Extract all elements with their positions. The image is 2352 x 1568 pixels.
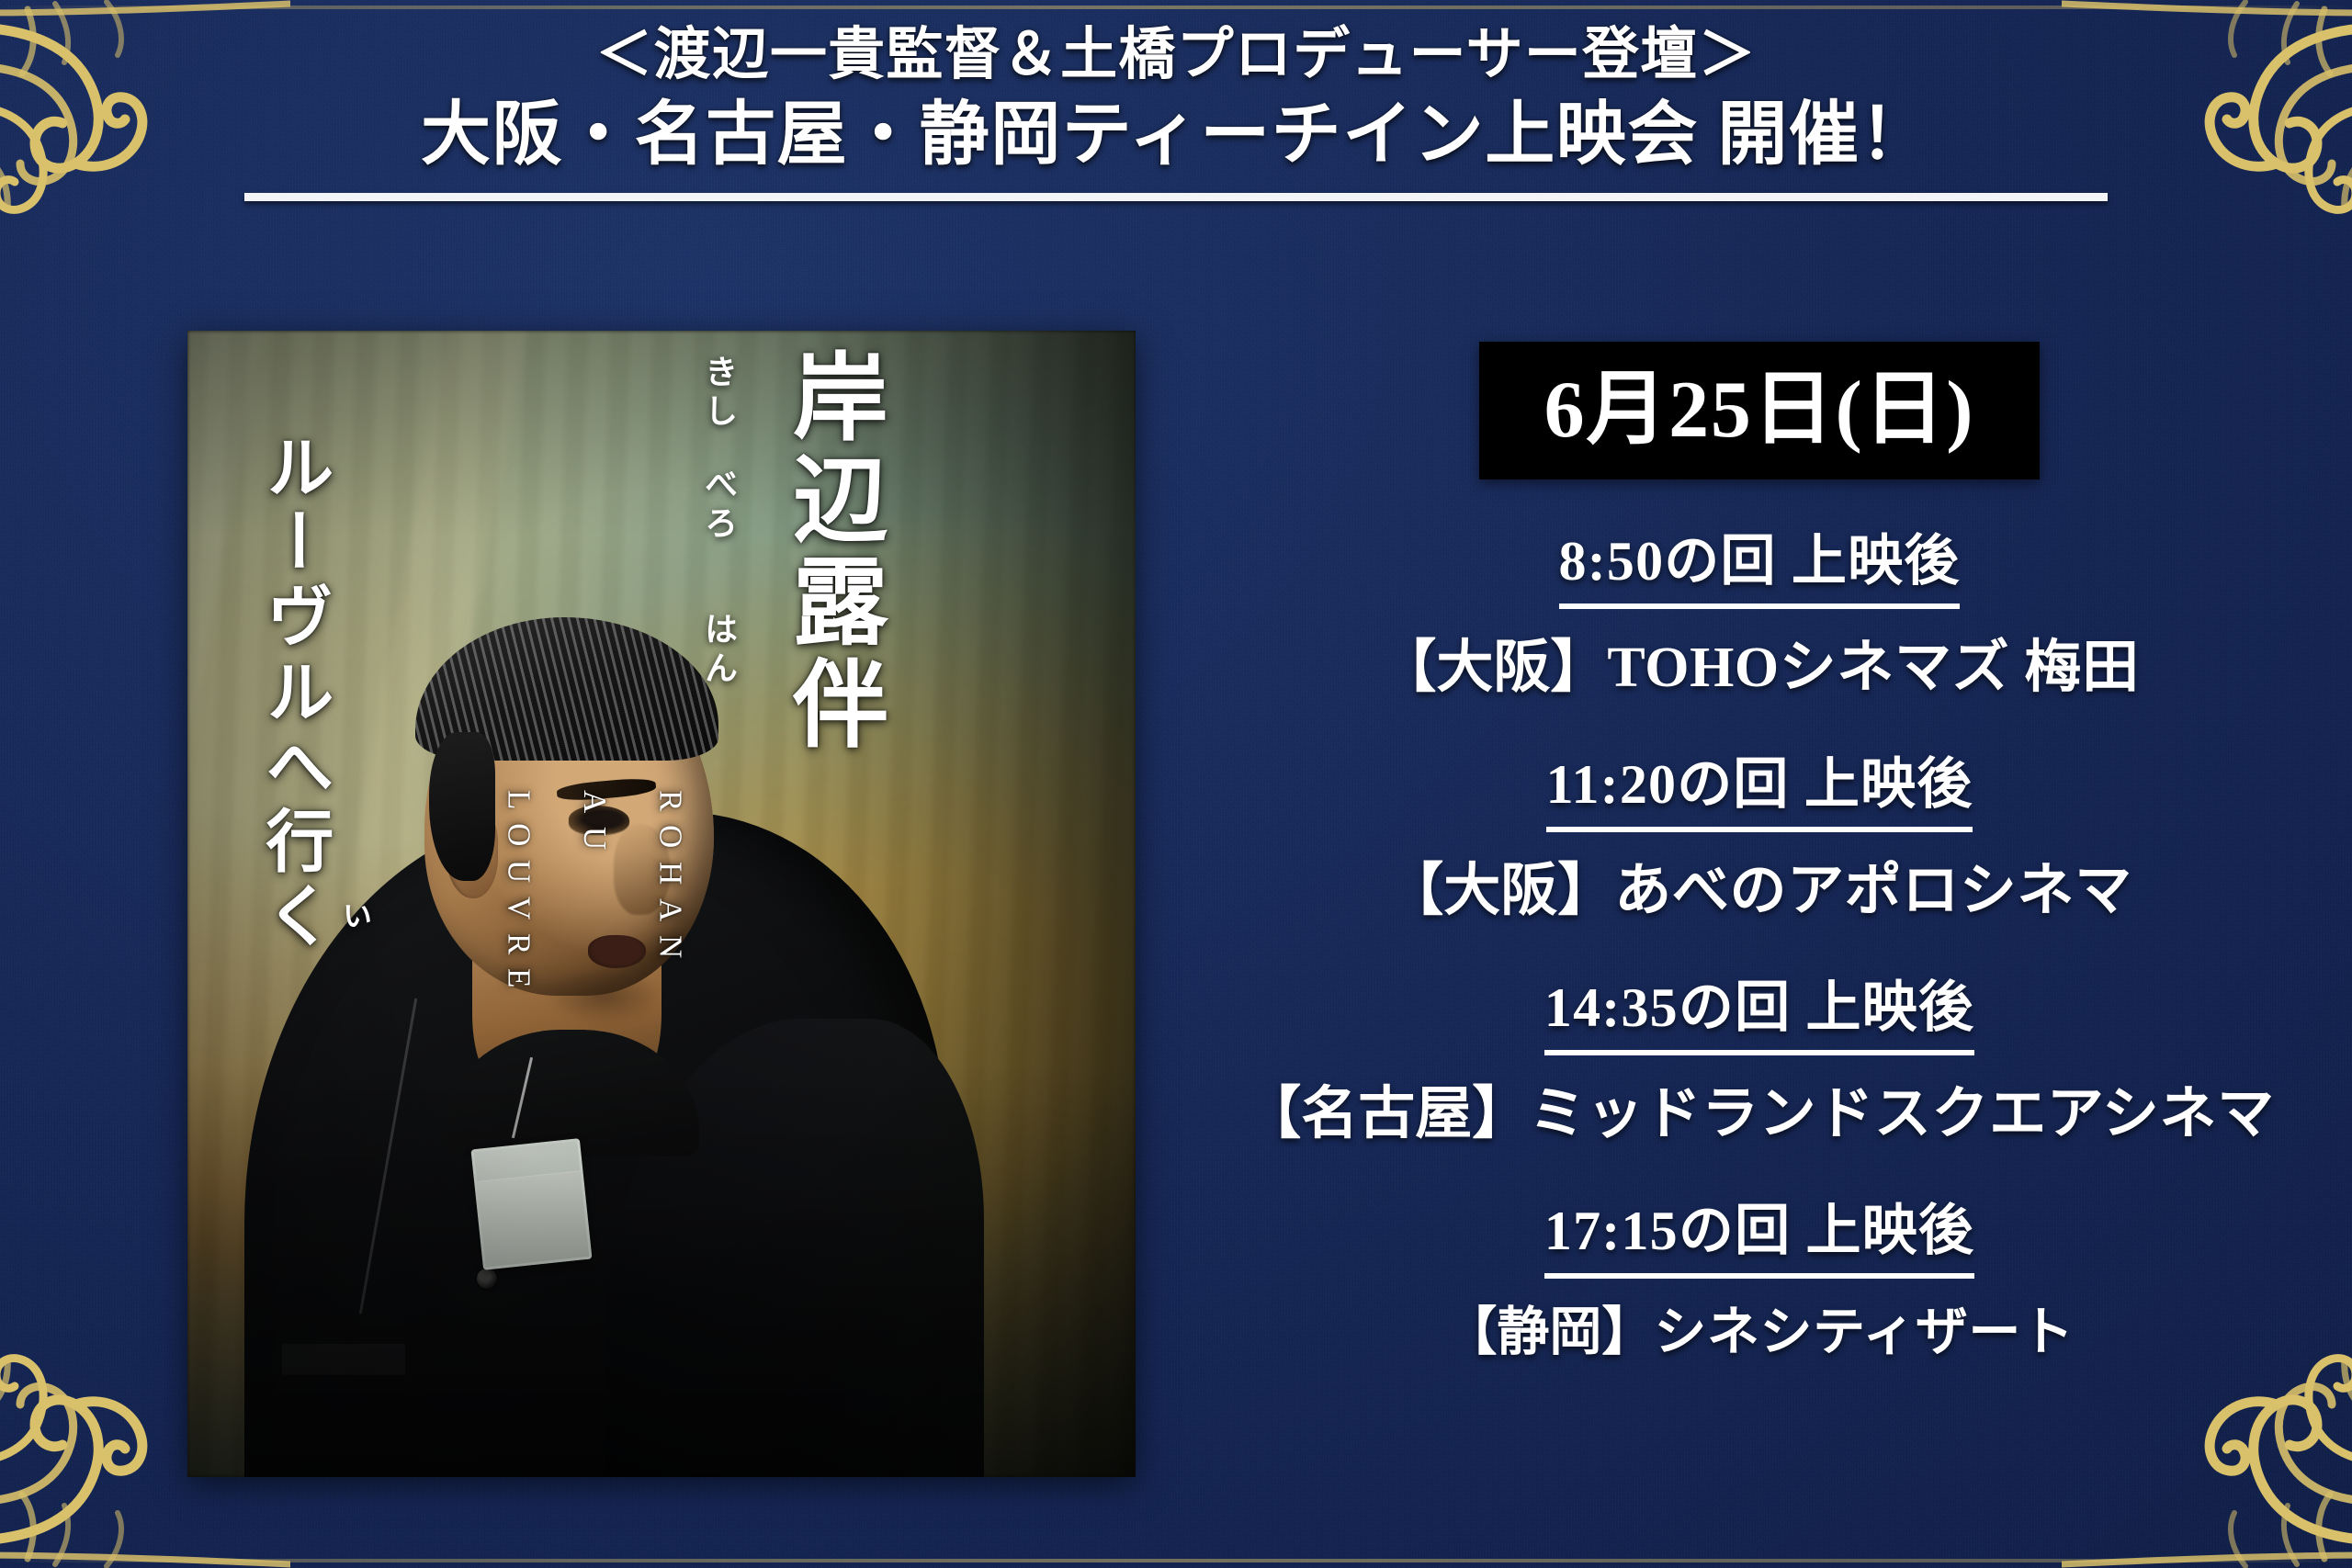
showing-row: 8:50の回 上映後 【大阪】TOHOシネマズ 梅田 (1185, 516, 2334, 703)
showing-venue: 【大阪】TOHOシネマズ 梅田 (1185, 620, 2334, 703)
showing-row: 11:20の回 上映後 【大阪】あべのアポロシネマ (1185, 739, 2334, 926)
header-divider (244, 193, 2108, 201)
showing-venue-name: TOHOシネマズ 梅田 (1607, 637, 2139, 699)
poster-ruby-kishi: きし (695, 355, 742, 433)
poster-romaji-line-3: LOUVRE (501, 790, 537, 1001)
header: ＜渡辺一貴監督＆土橋プロデューサー登壇＞ 大阪・名古屋・静岡ティーチイン上映会 … (0, 22, 2352, 201)
showing-venue-name: あべのアポロシネマ (1614, 860, 2132, 922)
showing-city: 【静岡】 (1444, 1303, 1654, 1361)
showing-city: 【名古屋】 (1244, 1083, 1529, 1145)
showing-venue: 【静岡】シネシティザート (1185, 1290, 2334, 1365)
date-badge-label: 6月25日(日) (1544, 370, 1975, 451)
showing-venue: 【名古屋】ミッドランドスクエアシネマ (1185, 1066, 2334, 1149)
showing-venue-name: ミッドランドスクエアシネマ (1529, 1083, 2275, 1145)
poster-title: 岸辺露伴 (761, 347, 899, 756)
showing-row: 14:35の回 上映後 【名古屋】ミッドランドスクエアシネマ (1185, 963, 2334, 1149)
header-line-2: 大阪・名古屋・静岡ティーチイン上映会 開催！ (0, 93, 2352, 178)
showing-venue: 【大阪】あべのアポロシネマ (1185, 843, 2334, 926)
poster-subtitle: ルーヴルへ行く (244, 432, 343, 955)
showing-time: 8:50の回 上映後 (1559, 516, 1961, 609)
poster-ruby-han: はん (695, 612, 742, 690)
date-badge: 6月25日(日) (1479, 342, 2040, 479)
showing-city: 【大阪】 (1379, 637, 1607, 699)
showing-venue-name: シネシティザート (1654, 1303, 2074, 1361)
poster-romaji-line-1: ROHAN (652, 790, 689, 972)
showing-time: 14:35の回 上映後 (1544, 963, 1974, 1055)
showing-time: 17:15の回 上映後 (1544, 1186, 1974, 1279)
bottom-gold-rule (0, 1559, 2352, 1562)
poster-ruby-bero: べろ (695, 467, 742, 545)
showing-row: 17:15の回 上映後 【静岡】シネシティザート (1185, 1186, 2334, 1365)
poster-subtitle-ruby: い (334, 900, 377, 930)
poster-romaji-line-2: AU (576, 790, 613, 863)
top-gold-rule (0, 6, 2352, 9)
showing-city: 【大阪】 (1386, 860, 1614, 922)
showing-time: 11:20の回 上映後 (1546, 739, 1973, 832)
movie-poster-image: 岸辺露伴 きし べろ はん ROHAN AU LOUVRE ルーヴルへ行く い (187, 331, 1136, 1477)
header-line-1: ＜渡辺一貴監督＆土橋プロデューサー登壇＞ (0, 22, 2352, 89)
schedule-panel: 6月25日(日) 8:50の回 上映後 【大阪】TOHOシネマズ 梅田 11:2… (1185, 342, 2334, 1472)
